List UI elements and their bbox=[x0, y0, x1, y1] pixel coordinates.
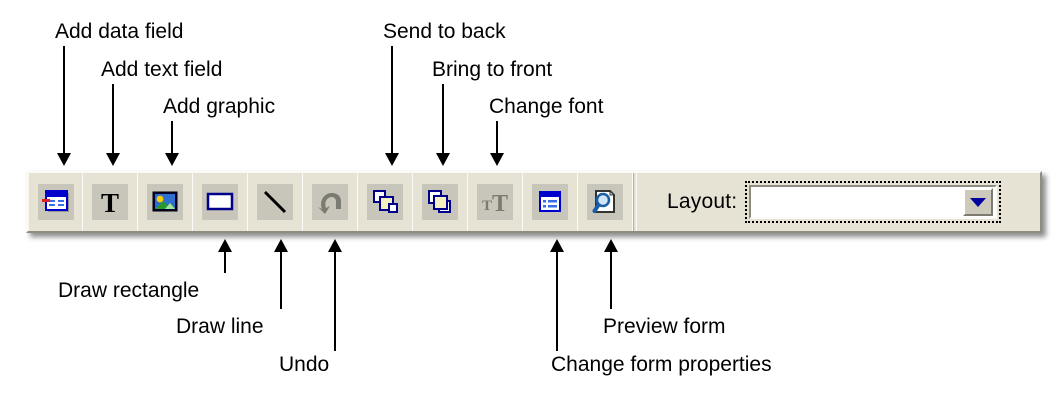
annotation-label-undo: Undo bbox=[279, 353, 329, 377]
preview-icon bbox=[587, 184, 623, 220]
toolbar-button-add-text-field[interactable]: T bbox=[83, 173, 138, 231]
annotation-arrow-add-data-field bbox=[57, 46, 71, 166]
toolbar-button-send-to-back[interactable] bbox=[358, 173, 413, 231]
layout-label: Layout: bbox=[667, 190, 737, 214]
layout-combobox-field[interactable] bbox=[749, 185, 997, 219]
toolbar-button-preview-form[interactable] bbox=[578, 173, 633, 231]
toolbar-button-bring-to-front[interactable] bbox=[413, 173, 468, 231]
annotation-label-add-data-field: Add data field bbox=[55, 20, 183, 44]
annotation-arrow-bring-to-front bbox=[436, 84, 450, 166]
annotation-arrow-draw-rectangle bbox=[218, 239, 232, 273]
annotation-label-change-font: Change font bbox=[489, 95, 603, 119]
toolbar-button-draw-rectangle[interactable] bbox=[193, 173, 248, 231]
annotation-label-add-text-field: Add text field bbox=[101, 58, 222, 82]
annotation-label-draw-rectangle: Draw rectangle bbox=[58, 279, 199, 303]
layout-combobox-dropdown-button[interactable] bbox=[963, 188, 993, 216]
annotation-label-add-graphic: Add graphic bbox=[163, 95, 275, 119]
annotation-label-draw-line: Draw line bbox=[176, 315, 264, 339]
toolbar-button-draw-line[interactable] bbox=[248, 173, 303, 231]
svg-text:T: T bbox=[101, 188, 119, 217]
annotation-label-preview-form: Preview form bbox=[603, 315, 726, 339]
form-design-toolbar: T bbox=[26, 171, 1042, 233]
annotation-arrow-change-form-properties bbox=[550, 239, 564, 351]
toolbar-button-undo[interactable] bbox=[303, 173, 358, 231]
bring-to-front-icon bbox=[422, 184, 458, 220]
toolbar-button-add-graphic[interactable] bbox=[138, 173, 193, 231]
toolbar-button-group: T bbox=[28, 173, 633, 231]
rectangle-icon bbox=[202, 184, 238, 220]
annotation-arrow-add-graphic bbox=[165, 121, 179, 166]
chevron-down-icon bbox=[970, 198, 986, 207]
annotation-arrow-preview-form bbox=[604, 239, 618, 309]
text-field-icon: T bbox=[92, 184, 128, 220]
layout-combobox[interactable] bbox=[745, 181, 1001, 223]
annotation-arrow-undo bbox=[328, 239, 342, 351]
toolbar-button-add-data-field[interactable] bbox=[28, 173, 83, 231]
font-icon: T T bbox=[477, 184, 513, 220]
annotation-label-bring-to-front: Bring to front bbox=[432, 58, 552, 82]
annotation-label-change-form-properties: Change form properties bbox=[551, 353, 772, 377]
data-field-icon bbox=[38, 184, 74, 220]
graphic-icon bbox=[147, 184, 183, 220]
annotation-arrow-change-font bbox=[490, 121, 504, 166]
line-icon bbox=[257, 184, 293, 220]
annotation-arrow-draw-line bbox=[274, 239, 288, 309]
annotated-toolbar-figure: Add data field Add text field Add graphi… bbox=[0, 0, 1063, 413]
layout-section: Layout: bbox=[637, 173, 1040, 231]
send-to-back-icon bbox=[367, 184, 403, 220]
toolbar-button-change-font[interactable]: T T bbox=[468, 173, 523, 231]
annotation-arrow-send-to-back bbox=[385, 46, 399, 166]
annotation-label-send-to-back: Send to back bbox=[383, 20, 506, 44]
svg-text:T: T bbox=[482, 198, 492, 214]
svg-text:T: T bbox=[492, 191, 508, 216]
undo-icon bbox=[312, 184, 348, 220]
toolbar-button-change-form-properties[interactable] bbox=[523, 173, 578, 231]
annotation-arrow-add-text-field bbox=[106, 84, 120, 166]
form-properties-icon bbox=[532, 184, 568, 220]
